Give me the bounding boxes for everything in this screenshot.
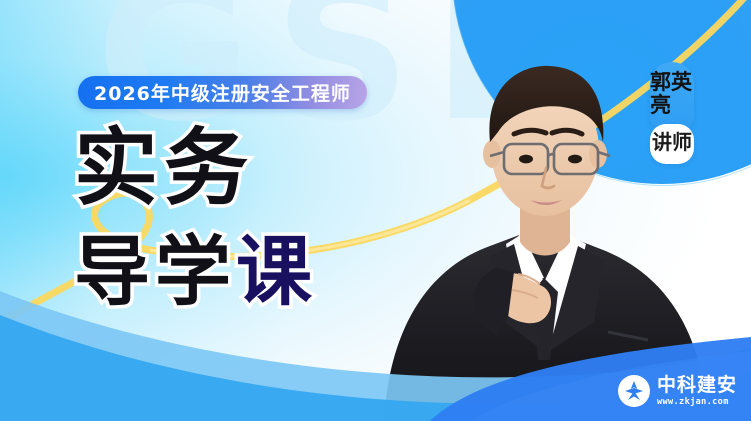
brand-text: 中科建安 www.zkjan.com	[657, 376, 737, 407]
course-poster: GSE	[0, 0, 751, 421]
instructor-role-block: 讲师	[650, 124, 694, 164]
course-badge-label: 2026年中级注册安全工程师	[94, 79, 351, 106]
zkjan-logo-icon	[618, 375, 650, 407]
instructor-badge: 郭英亮 讲师	[650, 62, 694, 164]
instructor-role: 讲师	[652, 132, 692, 154]
headline-primary: 实务	[74, 129, 254, 209]
headline-secondary-black: 导学	[74, 227, 236, 316]
headline-secondary-accent: 课	[236, 227, 317, 316]
headline-secondary: 导学课	[74, 236, 317, 308]
brand-url: www.zkjan.com	[657, 398, 737, 407]
brand-name: 中科建安	[657, 376, 737, 395]
brand-logo: 中科建安 www.zkjan.com	[618, 375, 737, 407]
instructor-name: 郭英亮	[650, 71, 694, 116]
instructor-name-block: 郭英亮	[650, 62, 694, 128]
course-badge: 2026年中级注册安全工程师	[78, 76, 367, 109]
